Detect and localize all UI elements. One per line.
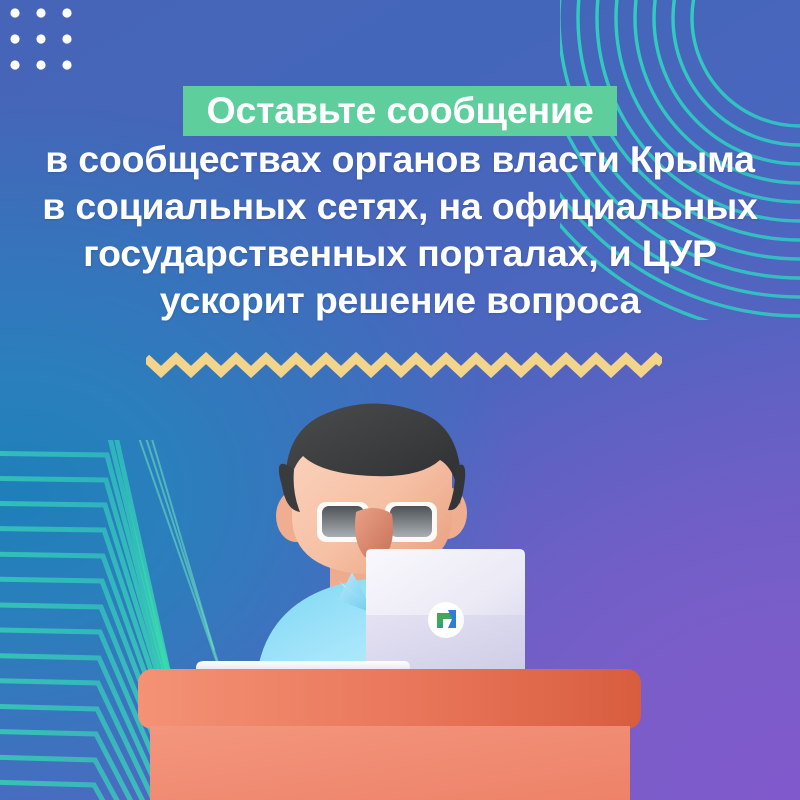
desk-front (150, 726, 630, 800)
headline-line-1: в сообществах органов власти Крыма (0, 136, 800, 183)
zigzag-divider-icon (146, 350, 662, 380)
headline-line-3: государственных порталах, и ЦУР (0, 230, 800, 277)
headline-block: Оставьте сообщение в сообществах органов… (0, 86, 800, 324)
poster-canvas: Оставьте сообщение в сообществах органов… (0, 0, 800, 800)
desk-top (138, 669, 641, 729)
headline-line-2: в социальных сетях, на официальных (0, 183, 800, 230)
headline-highlight-line: Оставьте сообщение (0, 86, 800, 136)
headline-line-4: ускорит решение вопроса (0, 277, 800, 324)
laptop-brand-logo-icon (428, 602, 464, 638)
headline-highlight-chip: Оставьте сообщение (183, 86, 618, 136)
